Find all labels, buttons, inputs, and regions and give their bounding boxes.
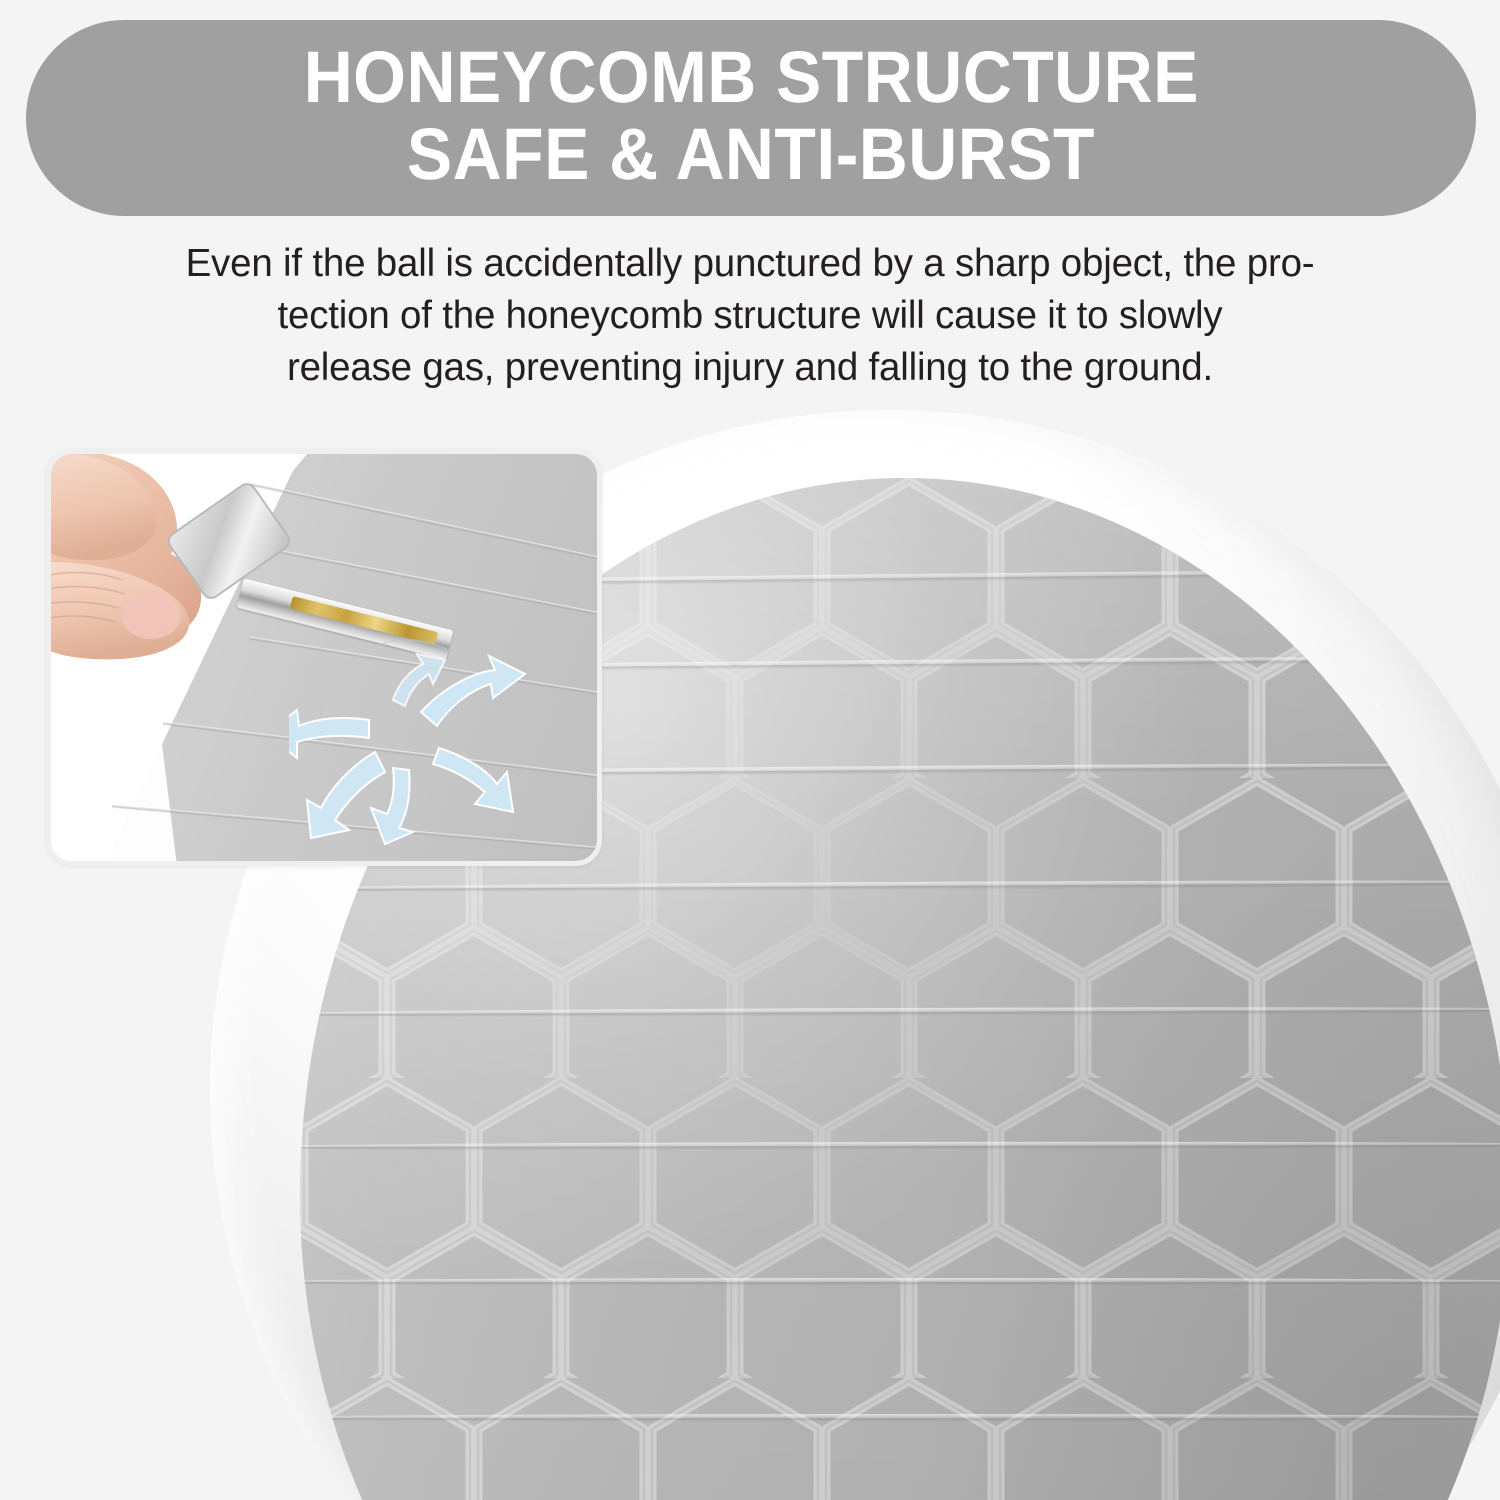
body-copy-line-3: release gas, preventing injury and falli… (60, 342, 1440, 394)
gas-release-arrows-icon (289, 616, 549, 846)
headline-line-2: SAFE & ANTI-BURST (407, 120, 1095, 189)
body-copy-line-1: Even if the ball is accidentally punctur… (60, 238, 1440, 290)
headline-banner: HONEYCOMB STRUCTURE SAFE & ANTI-BURST (26, 20, 1476, 216)
puncture-detail-photo (51, 454, 597, 861)
body-copy-line-2: tection of the honeycomb structure will … (60, 290, 1440, 342)
puncture-detail-card (46, 449, 602, 866)
headline-line-1: HONEYCOMB STRUCTURE (303, 43, 1198, 112)
product-feature-page: APEXUP (0, 0, 1500, 1500)
body-copy: Even if the ball is accidentally punctur… (60, 238, 1440, 394)
